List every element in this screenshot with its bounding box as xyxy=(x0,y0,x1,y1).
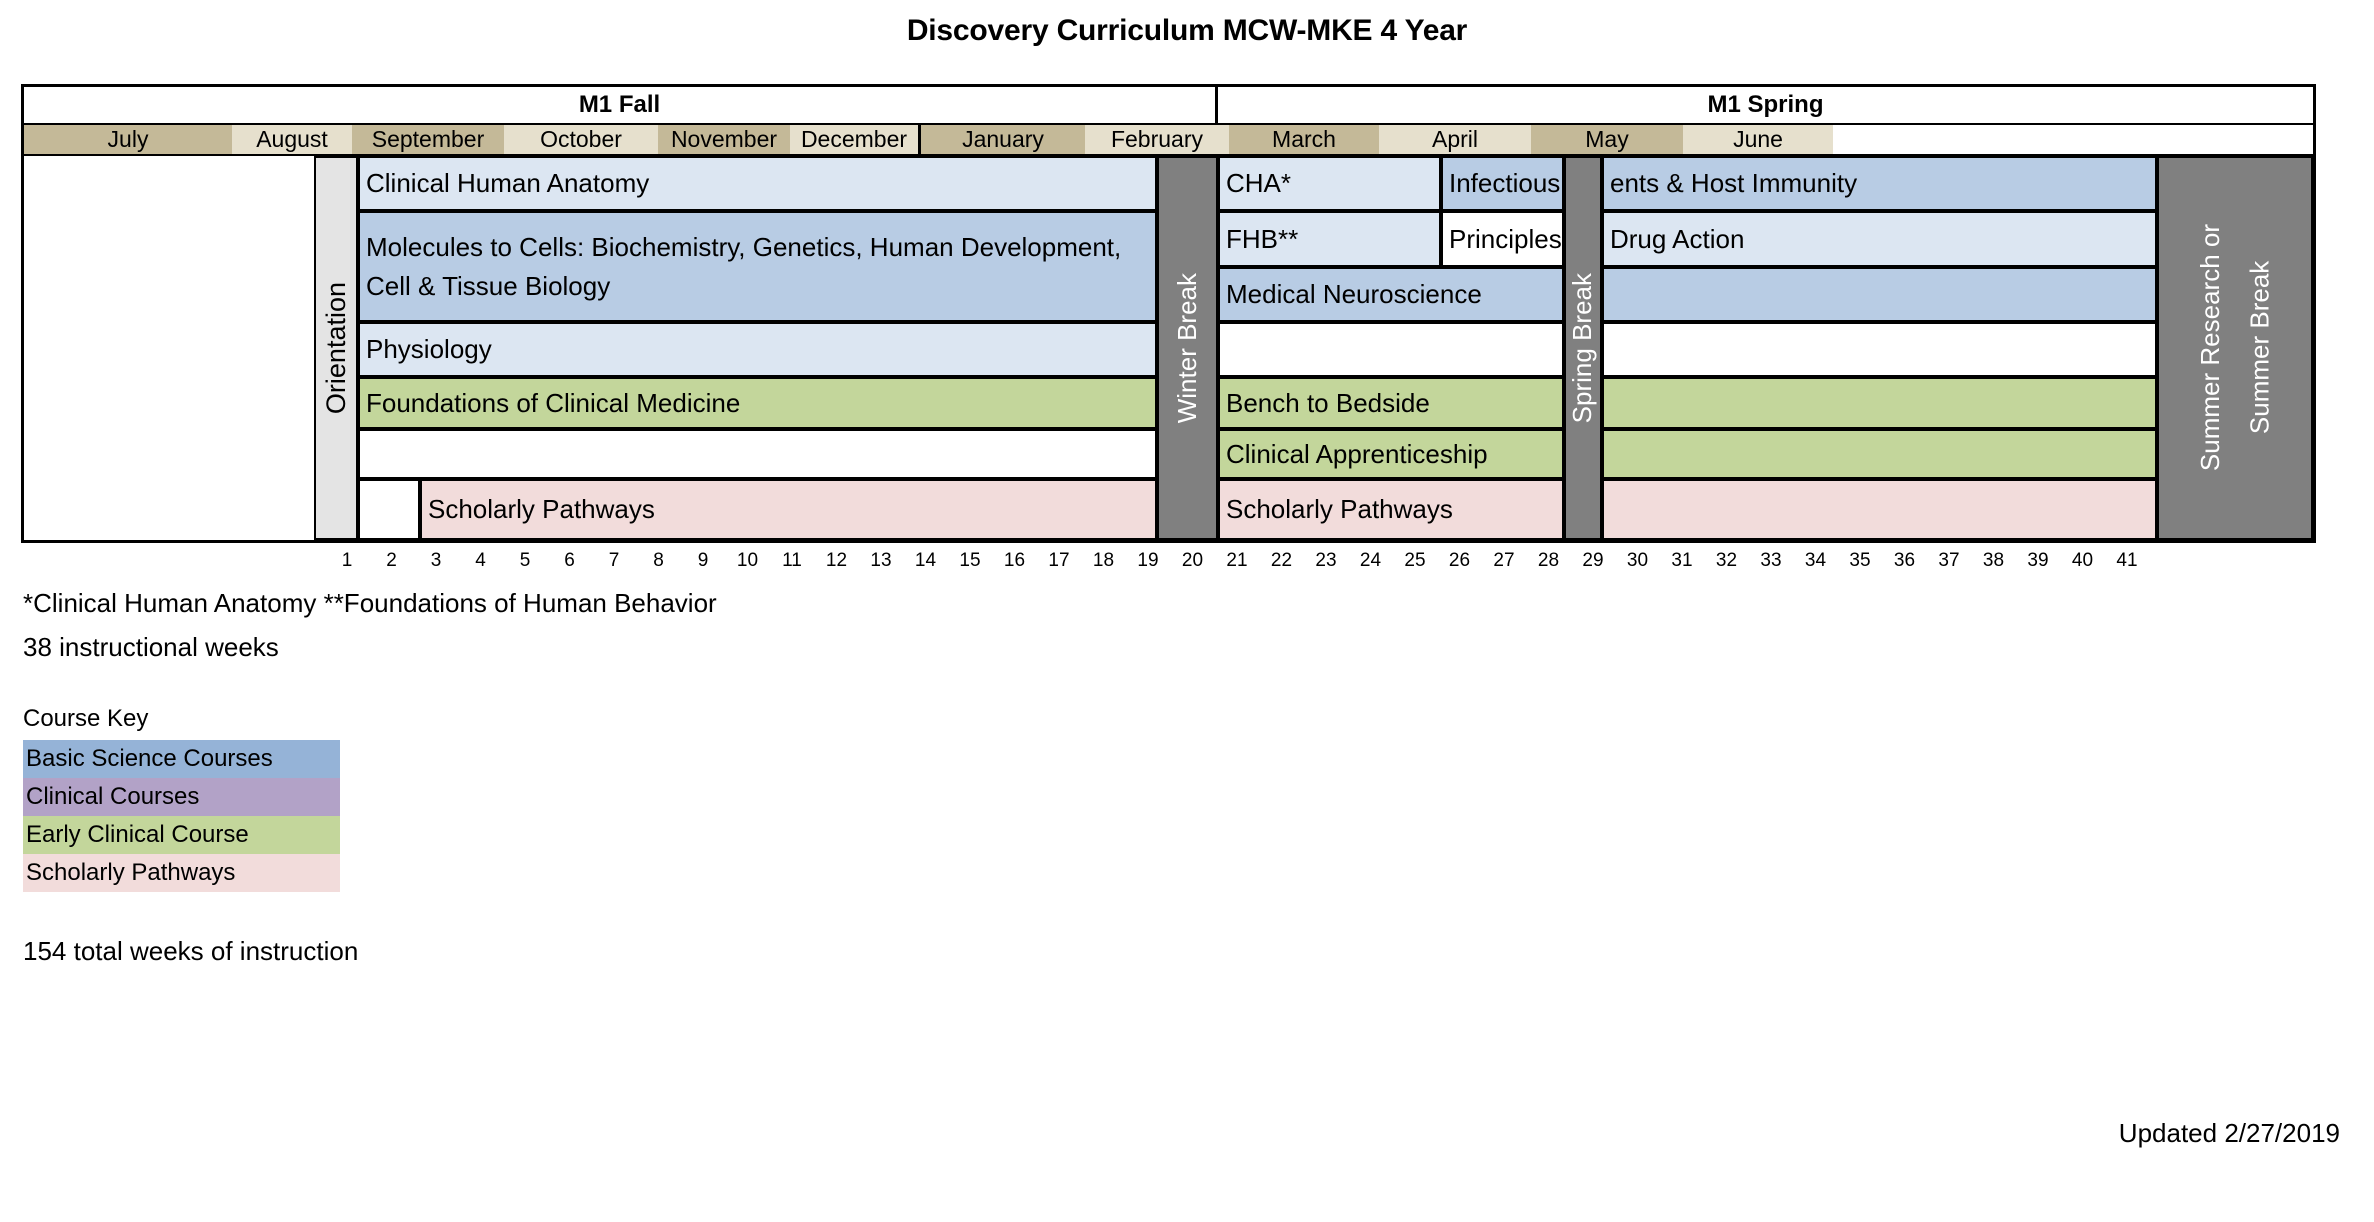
band-winter-break: Winter Break xyxy=(1157,156,1218,540)
week-number-38: 38 xyxy=(1971,548,2017,574)
course-block-physiology[interactable]: Physiology xyxy=(358,322,1157,377)
week-number-40: 40 xyxy=(2060,548,2106,574)
course-key-item-scholarly-pathways: Scholarly Pathways xyxy=(23,854,340,892)
month-cell-april: April xyxy=(1379,125,1531,154)
week-number-13: 13 xyxy=(858,548,904,574)
course-label: Scholarly Pathways xyxy=(428,494,655,525)
week-number-axis: 1234567891011121314151617181920212223242… xyxy=(0,548,2374,576)
band-label: Orientation xyxy=(321,282,351,414)
instructional-weeks-note: 38 instructional weeks xyxy=(23,632,279,663)
month-cell-august: August xyxy=(232,125,352,154)
course-block-fhb[interactable]: FHB** xyxy=(1218,211,1441,267)
semester-header-m1-spring: M1 Spring xyxy=(1218,87,2313,125)
week-number-10: 10 xyxy=(725,548,771,574)
week-number-3: 3 xyxy=(413,548,459,574)
week-number-34: 34 xyxy=(1793,548,1839,574)
course-block-empty xyxy=(358,429,1157,479)
course-block-bench-to-bedside[interactable]: Bench to Bedside xyxy=(1218,377,1564,429)
week-number-27: 27 xyxy=(1481,548,1527,574)
month-label: July xyxy=(108,126,149,153)
week-number-4: 4 xyxy=(458,548,504,574)
week-number-24: 24 xyxy=(1348,548,1394,574)
course-block-scholarly-pathways[interactable]: Scholarly Pathways xyxy=(420,479,1157,540)
semester-label: M1 Fall xyxy=(579,91,660,119)
band-orientation: Orientation xyxy=(314,156,358,540)
month-label: May xyxy=(1585,126,1628,153)
course-label: Clinical Apprenticeship xyxy=(1226,439,1488,470)
week-number-16: 16 xyxy=(992,548,1038,574)
course-block-cha[interactable]: CHA* xyxy=(1218,156,1441,211)
month-cell-november: November xyxy=(658,125,790,154)
course-key-label: Clinical Courses xyxy=(26,783,199,811)
week-number-6: 6 xyxy=(547,548,593,574)
month-cell-february: February xyxy=(1085,125,1229,154)
month-label: September xyxy=(372,126,485,153)
course-block-ents-host-immunity[interactable]: ents & Host Immunity xyxy=(1602,156,2157,211)
course-block-empty xyxy=(1602,377,2157,429)
month-cell-march: March xyxy=(1229,125,1379,154)
week-number-2: 2 xyxy=(369,548,415,574)
course-block-foundations-of-clinical-medicine[interactable]: Foundations of Clinical Medicine xyxy=(358,377,1157,429)
week-number-12: 12 xyxy=(814,548,860,574)
week-number-15: 15 xyxy=(947,548,993,574)
band-label: Summer Research orSummer Break xyxy=(2186,224,2285,471)
week-number-41: 41 xyxy=(2104,548,2150,574)
total-weeks-note: 154 total weeks of instruction xyxy=(23,936,358,967)
course-block-clinical-human-anatomy[interactable]: Clinical Human Anatomy xyxy=(358,156,1157,211)
course-block-empty xyxy=(1602,267,2157,322)
course-label: Foundations of Clinical Medicine xyxy=(366,388,740,419)
week-number-37: 37 xyxy=(1926,548,1972,574)
band-spring-break: Spring Break xyxy=(1564,156,1602,540)
month-cell-december: December xyxy=(790,125,921,154)
course-block-empty xyxy=(1602,479,2157,540)
month-label: January xyxy=(962,126,1044,153)
course-label: Physiology xyxy=(366,334,492,365)
course-block-clinical-apprenticeship[interactable]: Clinical Apprenticeship xyxy=(1218,429,1564,479)
month-header-row: JulyAugustSeptemberOctoberNovemberDecemb… xyxy=(24,125,2313,156)
course-label: Drug Action xyxy=(1610,224,1744,255)
course-label: Bench to Bedside xyxy=(1226,388,1430,419)
week-number-28: 28 xyxy=(1526,548,1572,574)
month-cell-may: May xyxy=(1531,125,1683,154)
week-number-14: 14 xyxy=(903,548,949,574)
course-block-principles-of[interactable]: Principles of xyxy=(1441,211,1564,267)
week-number-39: 39 xyxy=(2015,548,2061,574)
month-cell-september: September xyxy=(352,125,504,154)
month-label: December xyxy=(801,126,907,153)
course-key-legend: Basic Science CoursesClinical CoursesEar… xyxy=(23,740,340,892)
week-number-1: 1 xyxy=(324,548,370,574)
week-number-18: 18 xyxy=(1081,548,1127,574)
week-number-36: 36 xyxy=(1882,548,1928,574)
week-number-7: 7 xyxy=(591,548,637,574)
page-title: Discovery Curriculum MCW-MKE 4 Year xyxy=(0,14,2374,48)
course-label: CHA* xyxy=(1226,168,1291,199)
abbreviation-note: *Clinical Human Anatomy **Foundations of… xyxy=(23,588,717,619)
month-label: November xyxy=(671,126,777,153)
month-cell-june: June xyxy=(1683,125,1833,154)
course-label: Clinical Human Anatomy xyxy=(366,168,649,199)
week-number-22: 22 xyxy=(1259,548,1305,574)
month-label: October xyxy=(540,126,622,153)
course-block-molecules-to-cells-biochemistry-genetics[interactable]: Molecules to Cells: Biochemistry, Geneti… xyxy=(358,211,1157,322)
course-block-drug-action[interactable]: Drug Action xyxy=(1602,211,2157,267)
course-label: ents & Host Immunity xyxy=(1610,168,1857,199)
week-number-11: 11 xyxy=(769,548,815,574)
week-number-20: 20 xyxy=(1170,548,1216,574)
course-key-label: Basic Science Courses xyxy=(26,745,273,773)
month-label: April xyxy=(1432,126,1478,153)
course-label: Medical Neuroscience xyxy=(1226,279,1482,310)
month-label: February xyxy=(1111,126,1203,153)
week-number-23: 23 xyxy=(1303,548,1349,574)
course-label: FHB** xyxy=(1226,224,1298,255)
band-label: Spring Break xyxy=(1568,273,1597,423)
week-number-32: 32 xyxy=(1704,548,1750,574)
updated-date: Updated 2/27/2019 xyxy=(2119,1118,2340,1149)
week-number-21: 21 xyxy=(1214,548,1260,574)
month-cell-july: July xyxy=(24,125,232,154)
course-block-medical-neuroscience[interactable]: Medical Neuroscience xyxy=(1218,267,1564,322)
course-key-item-clinical-courses: Clinical Courses xyxy=(23,778,340,816)
course-block-empty xyxy=(1602,322,2157,377)
course-block-scholarly-pathways[interactable]: Scholarly Pathways xyxy=(1218,479,1564,540)
week-number-26: 26 xyxy=(1437,548,1483,574)
week-number-35: 35 xyxy=(1837,548,1883,574)
course-key-label: Early Clinical Course xyxy=(26,821,249,849)
week-number-17: 17 xyxy=(1036,548,1082,574)
course-label: Scholarly Pathways xyxy=(1226,494,1453,525)
course-block-empty xyxy=(1218,322,1564,377)
course-grid: Clinical Human AnatomyMolecules to Cells… xyxy=(24,156,2313,540)
week-number-8: 8 xyxy=(636,548,682,574)
semester-header-m1-fall: M1 Fall xyxy=(24,87,1218,125)
course-key-item-early-clinical-course: Early Clinical Course xyxy=(23,816,340,854)
month-label: June xyxy=(1733,126,1783,153)
band-label: Winter Break xyxy=(1173,273,1202,423)
week-number-5: 5 xyxy=(502,548,548,574)
month-label: August xyxy=(256,126,328,153)
course-key-label: Scholarly Pathways xyxy=(26,859,235,887)
course-block-infectious-ag[interactable]: Infectious Ag xyxy=(1441,156,1564,211)
course-key-title: Course Key xyxy=(23,705,148,733)
course-label: Infectious Ag xyxy=(1449,168,1564,199)
course-block-empty xyxy=(358,479,420,540)
week-number-9: 9 xyxy=(680,548,726,574)
week-number-29: 29 xyxy=(1570,548,1616,574)
month-cell-january: January xyxy=(921,125,1085,154)
week-number-31: 31 xyxy=(1659,548,1705,574)
week-number-30: 30 xyxy=(1615,548,1661,574)
semester-label: M1 Spring xyxy=(1707,91,1823,119)
course-label: Molecules to Cells: Biochemistry, Geneti… xyxy=(366,228,1155,305)
week-number-25: 25 xyxy=(1392,548,1438,574)
band-summer-research: Summer Research orSummer Break xyxy=(2157,156,2313,540)
curriculum-timeline: M1 Fall M1 Spring JulyAugustSeptemberOct… xyxy=(21,84,2316,543)
course-key-item-basic-science-courses: Basic Science Courses xyxy=(23,740,340,778)
week-number-33: 33 xyxy=(1748,548,1794,574)
week-number-19: 19 xyxy=(1125,548,1171,574)
month-label: March xyxy=(1272,126,1336,153)
course-block-empty xyxy=(1602,429,2157,479)
month-cell-october: October xyxy=(504,125,658,154)
course-label: Principles of xyxy=(1449,224,1564,255)
